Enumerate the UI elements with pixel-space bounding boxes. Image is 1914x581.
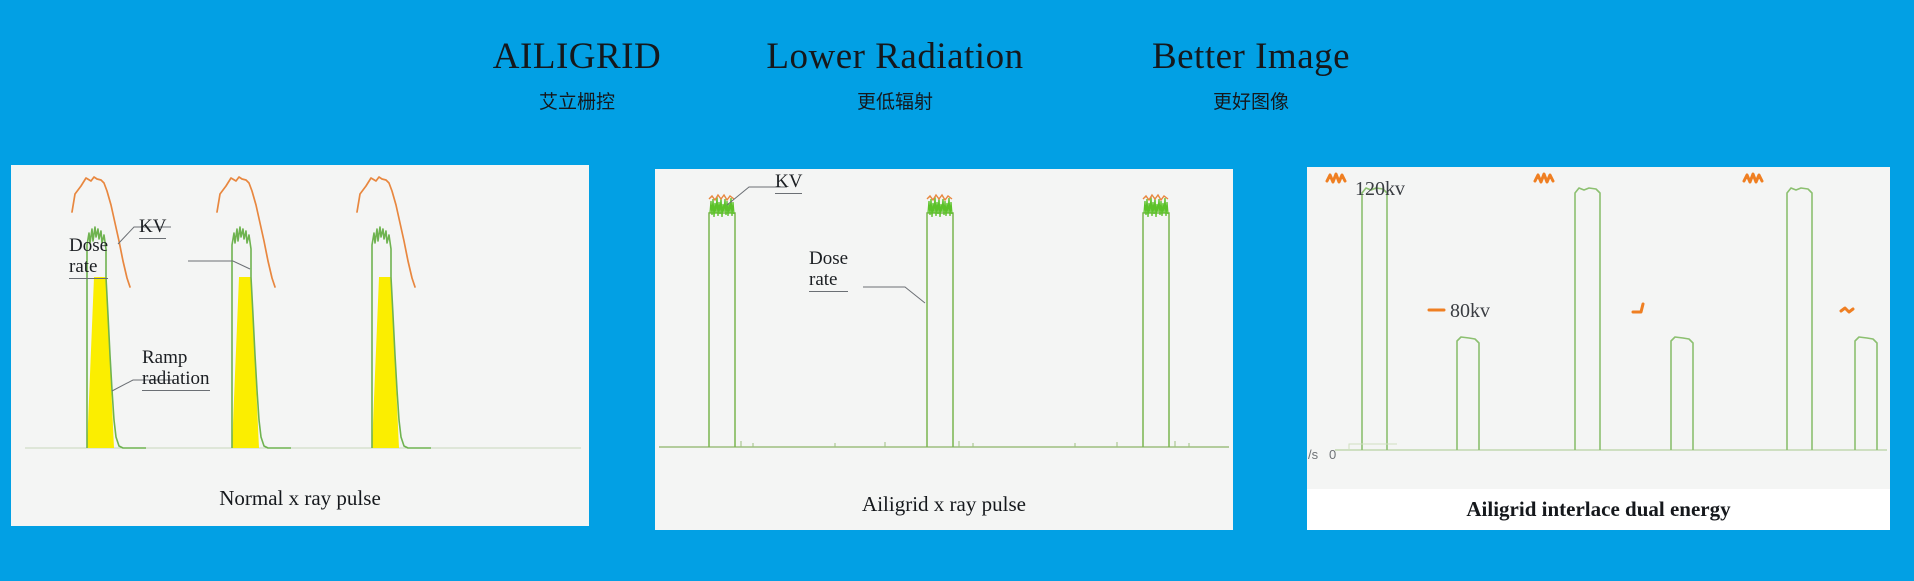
header-lower-radiation-en: Lower Radiation [740,35,1050,79]
dose-rate-leader-line [188,261,250,269]
kv-marker-80kv-2 [1633,304,1643,312]
kv-marker-80kv-group [1429,304,1853,312]
pulse-80kv-2 [1671,337,1693,450]
ramp-radiation-annotation-label: Ramp radiation [142,347,210,391]
panel-ailigrid-x-ray-pulse: KV Dose rate Ailigrid x ray pulse [655,169,1233,530]
kv-annotation-label: KV [139,216,166,239]
waveform-svg-normal [11,165,589,470]
dose-rate-leader-line [863,287,925,303]
panel-1-caption: Normal x ray pulse [11,470,589,526]
kv-marker-120kv-2 [1535,174,1553,182]
baseline-low-trace [1349,444,1397,450]
panel-2-caption: Ailigrid x ray pulse [655,478,1233,530]
chart-ailigrid-interlace-dual-energy [1307,167,1890,489]
waveform-svg-dual-energy [1307,167,1890,489]
pulse-80kv-3 [1855,337,1877,450]
kv-curve [709,195,1168,200]
kv-marker-80kv-3 [1841,308,1853,312]
header-group-brand: AILIGRID 艾立栅控 [447,35,707,115]
ramp-radiation-fill [87,277,399,448]
panel-3-caption: Ailigrid interlace dual energy [1307,489,1890,530]
header-group-lower-radiation: Lower Radiation 更低辐射 [740,35,1050,115]
header-brand-en: AILIGRID [447,35,707,79]
kv-annotation-label: KV [775,171,802,194]
header-group-better-image: Better Image 更好图像 [1096,35,1406,115]
y-axis-unit-label: /s [1308,447,1318,462]
header-better-image-cn: 更好图像 [1096,89,1406,115]
header-banner: AILIGRID 艾立栅控 Lower Radiation 更低辐射 Bette… [0,0,1914,160]
panel-ailigrid-interlace-dual-energy: 120kv 80kv /s 0 Ailigrid interlace dual … [1307,167,1890,530]
pulse-80kv-1 [1457,337,1479,450]
y-axis-zero-label: 0 [1329,447,1336,462]
waveform-svg-ailigrid [655,169,1233,478]
legend-label-80kv: 80kv [1450,300,1490,323]
chart-normal-x-ray-pulse [11,165,589,470]
dose-rate-curve [709,213,1169,447]
header-brand-cn: 艾立栅控 [447,89,707,115]
legend-label-120kv: 120kv [1355,178,1405,201]
header-lower-radiation-cn: 更低辐射 [740,89,1050,115]
chart-ailigrid-x-ray-pulse [655,169,1233,478]
pulse-120kv-3 [1787,188,1812,450]
pulse-120kv-1 [1362,188,1387,450]
dose-rate-annotation-label: Dose rate [809,248,848,292]
panel-normal-x-ray-pulse: KV Dose rate Ramp radiation Normal x ray… [11,165,589,526]
pulse-120kv-2 [1575,188,1600,450]
dose-rate-curve [1362,188,1877,450]
header-better-image-en: Better Image [1096,35,1406,79]
kv-marker-120kv-3 [1744,174,1762,182]
kv-marker-120kv-1 [1327,174,1345,182]
baseline-ticks [741,441,1189,447]
dose-rate-annotation-label: Dose rate [69,235,108,279]
